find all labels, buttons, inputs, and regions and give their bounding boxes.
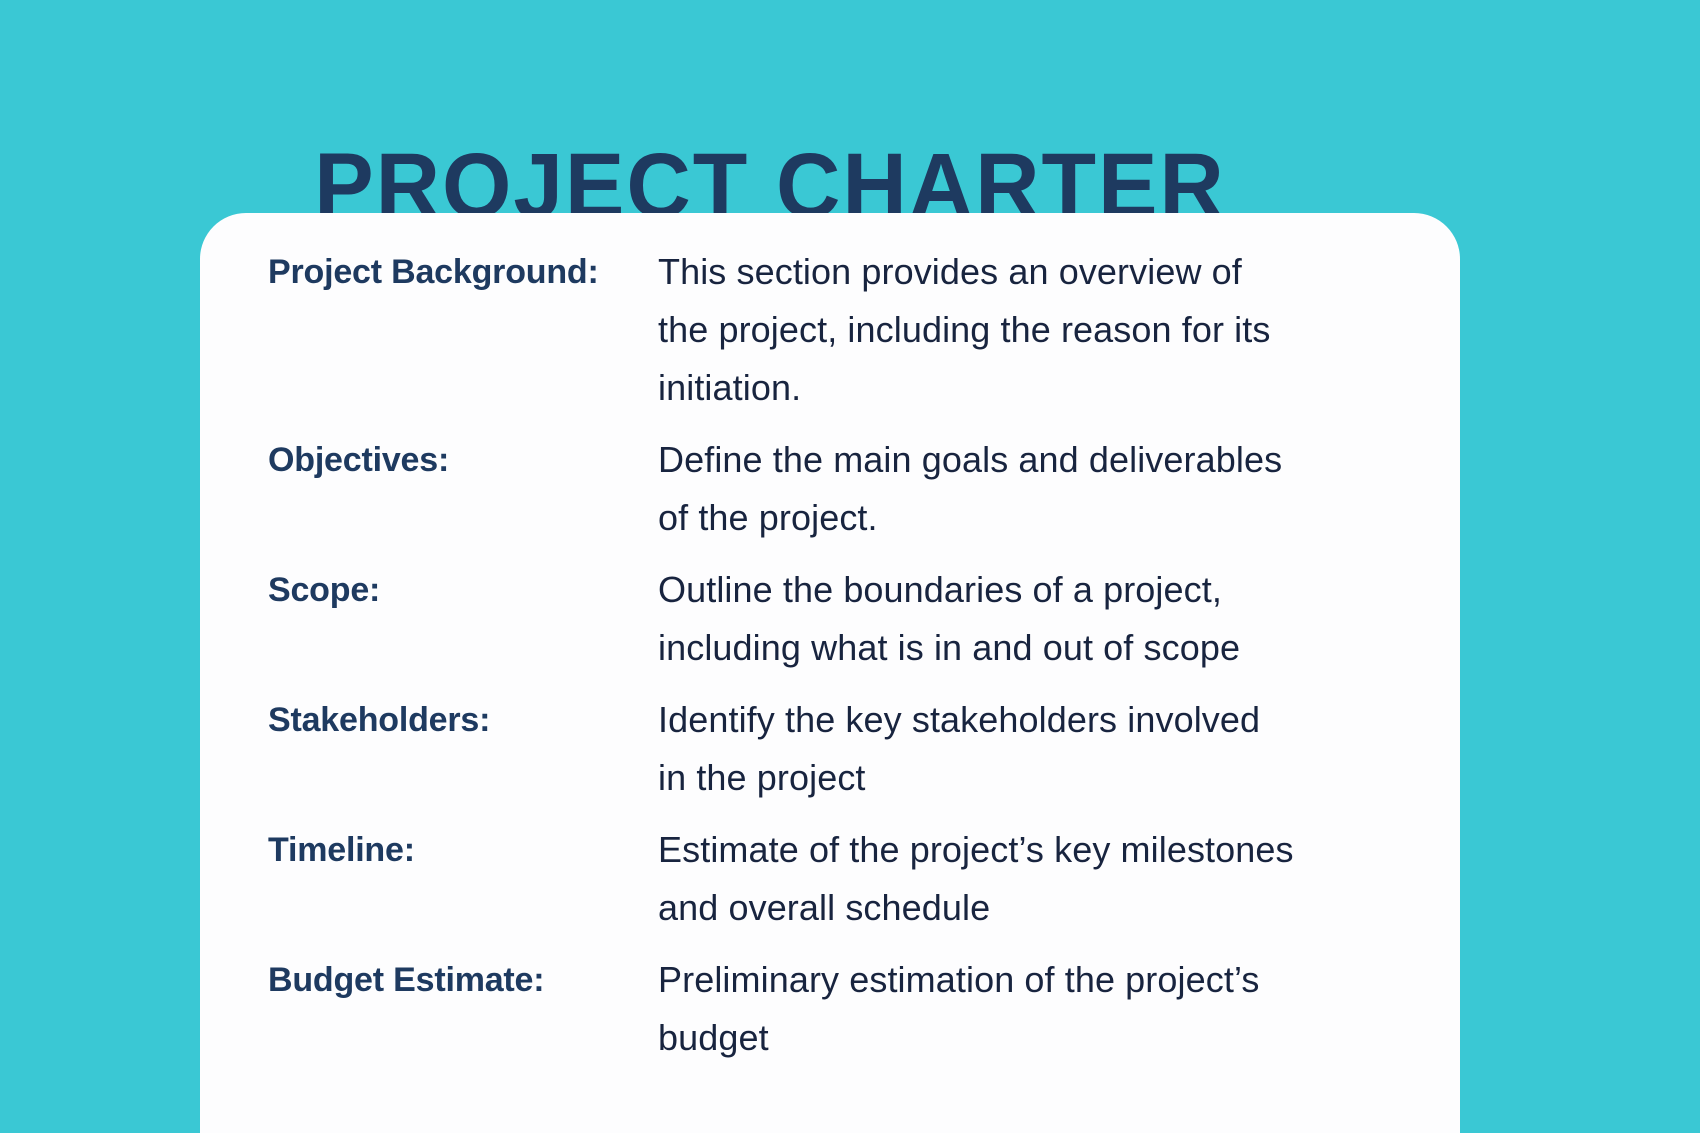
row-body-objectives: Define the main goals and deliverables o… [658, 431, 1398, 547]
row-body-line: initiation. [658, 359, 1398, 417]
row-body-timeline: Estimate of the project’s key milestones… [658, 821, 1398, 937]
list-item: Project Background: This section provide… [268, 243, 1398, 417]
row-label-project-background: Project Background: [268, 243, 658, 301]
row-body-line: Preliminary estimation of the project’s [658, 951, 1398, 1009]
list-item: Scope: Outline the boundaries of a proje… [268, 561, 1398, 677]
row-body-stakeholders: Identify the key stakeholders involved i… [658, 691, 1398, 807]
list-item: Objectives: Define the main goals and de… [268, 431, 1398, 547]
row-label-budget-estimate: Budget Estimate: [268, 951, 658, 1009]
row-body-line: the project, including the reason for it… [658, 301, 1398, 359]
row-body-line: Identify the key stakeholders involved [658, 691, 1398, 749]
row-label-stakeholders: Stakeholders: [268, 691, 658, 749]
row-body-project-background: This section provides an overview of the… [658, 243, 1398, 417]
row-body-line: budget [658, 1009, 1398, 1067]
project-charter-page: PROJECT CHARTER Project Background: This… [0, 0, 1700, 1133]
row-body-line: and overall schedule [658, 879, 1398, 937]
row-body-line: Define the main goals and deliverables [658, 431, 1398, 489]
row-body-line: This section provides an overview of [658, 243, 1398, 301]
charter-rows-list: Project Background: This section provide… [268, 243, 1398, 1081]
row-body-line: including what is in and out of scope [658, 619, 1398, 677]
list-item: Timeline: Estimate of the project’s key … [268, 821, 1398, 937]
row-body-line: of the project. [658, 489, 1398, 547]
row-body-line: Outline the boundaries of a project, [658, 561, 1398, 619]
charter-card: Project Background: This section provide… [200, 213, 1460, 1133]
row-body-budget-estimate: Preliminary estimation of the project’s … [658, 951, 1398, 1067]
list-item: Budget Estimate: Preliminary estimation … [268, 951, 1398, 1067]
row-body-line: in the project [658, 749, 1398, 807]
row-label-scope: Scope: [268, 561, 658, 619]
row-body-scope: Outline the boundaries of a project, inc… [658, 561, 1398, 677]
row-label-objectives: Objectives: [268, 431, 658, 489]
row-label-timeline: Timeline: [268, 821, 658, 879]
list-item: Stakeholders: Identify the key stakehold… [268, 691, 1398, 807]
row-body-line: Estimate of the project’s key milestones [658, 821, 1398, 879]
